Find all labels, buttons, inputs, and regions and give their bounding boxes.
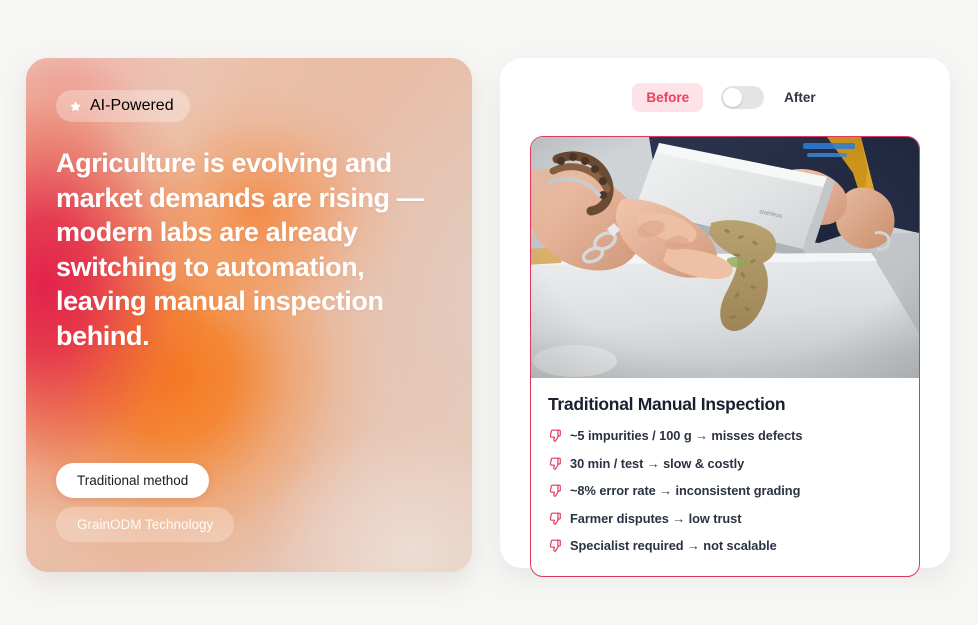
before-panel: stainless [530, 136, 920, 577]
hero-content: AI-Powered Agriculture is evolving and m… [26, 58, 472, 572]
list-item-label: ~8% error rate → inconsistent grading [570, 483, 800, 499]
pill-grainodm-technology-label: GrainODM Technology [77, 517, 213, 532]
list-item-label: Farmer disputes → low trust [570, 511, 741, 527]
panel-title: Traditional Manual Inspection [548, 394, 902, 415]
list-item: ~5 impurities / 100 g → misses defects [548, 428, 902, 448]
comparison-card: Before After [500, 58, 950, 568]
thumbs-down-icon [548, 429, 562, 448]
panel-body: Traditional Manual Inspection ~5 impurit… [531, 378, 919, 576]
before-after-switch[interactable] [721, 86, 764, 109]
list-item: ~8% error rate → inconsistent grading [548, 483, 902, 503]
list-item-label: Specialist required → not scalable [570, 538, 777, 554]
page-root: AI-Powered Agriculture is evolving and m… [0, 0, 978, 625]
before-after-toggle-row: Before After [500, 58, 950, 136]
thumbs-down-icon [548, 512, 562, 531]
toggle-before-label[interactable]: Before [632, 83, 703, 112]
star-icon [69, 100, 82, 113]
traditional-method-hero-card: AI-Powered Agriculture is evolving and m… [26, 58, 472, 572]
hero-headline: Agriculture is evolving and market deman… [56, 146, 442, 353]
list-item-label: ~5 impurities / 100 g → misses defects [570, 428, 802, 444]
pill-traditional-method-label: Traditional method [77, 473, 188, 488]
toggle-after-label[interactable]: After [782, 83, 818, 112]
thumbs-down-icon [548, 539, 562, 558]
thumbs-down-icon [548, 457, 562, 476]
pill-grainodm-technology[interactable]: GrainODM Technology [56, 507, 234, 542]
list-item: 30 min / test → slow & costly [548, 456, 902, 476]
list-item-label: 30 min / test → slow & costly [570, 456, 744, 472]
method-pill-group: Traditional method GrainODM Technology [56, 463, 234, 542]
list-item: Farmer disputes → low trust [548, 511, 902, 531]
manual-grain-inspection-photo: stainless [531, 137, 919, 378]
ai-powered-badge-label: AI-Powered [90, 97, 174, 115]
thumbs-down-icon [548, 484, 562, 503]
pill-traditional-method[interactable]: Traditional method [56, 463, 209, 498]
switch-knob [723, 88, 742, 107]
drawback-list: ~5 impurities / 100 g → misses defects 3… [548, 428, 902, 558]
list-item: Specialist required → not scalable [548, 538, 902, 558]
ai-powered-badge: AI-Powered [56, 90, 190, 122]
